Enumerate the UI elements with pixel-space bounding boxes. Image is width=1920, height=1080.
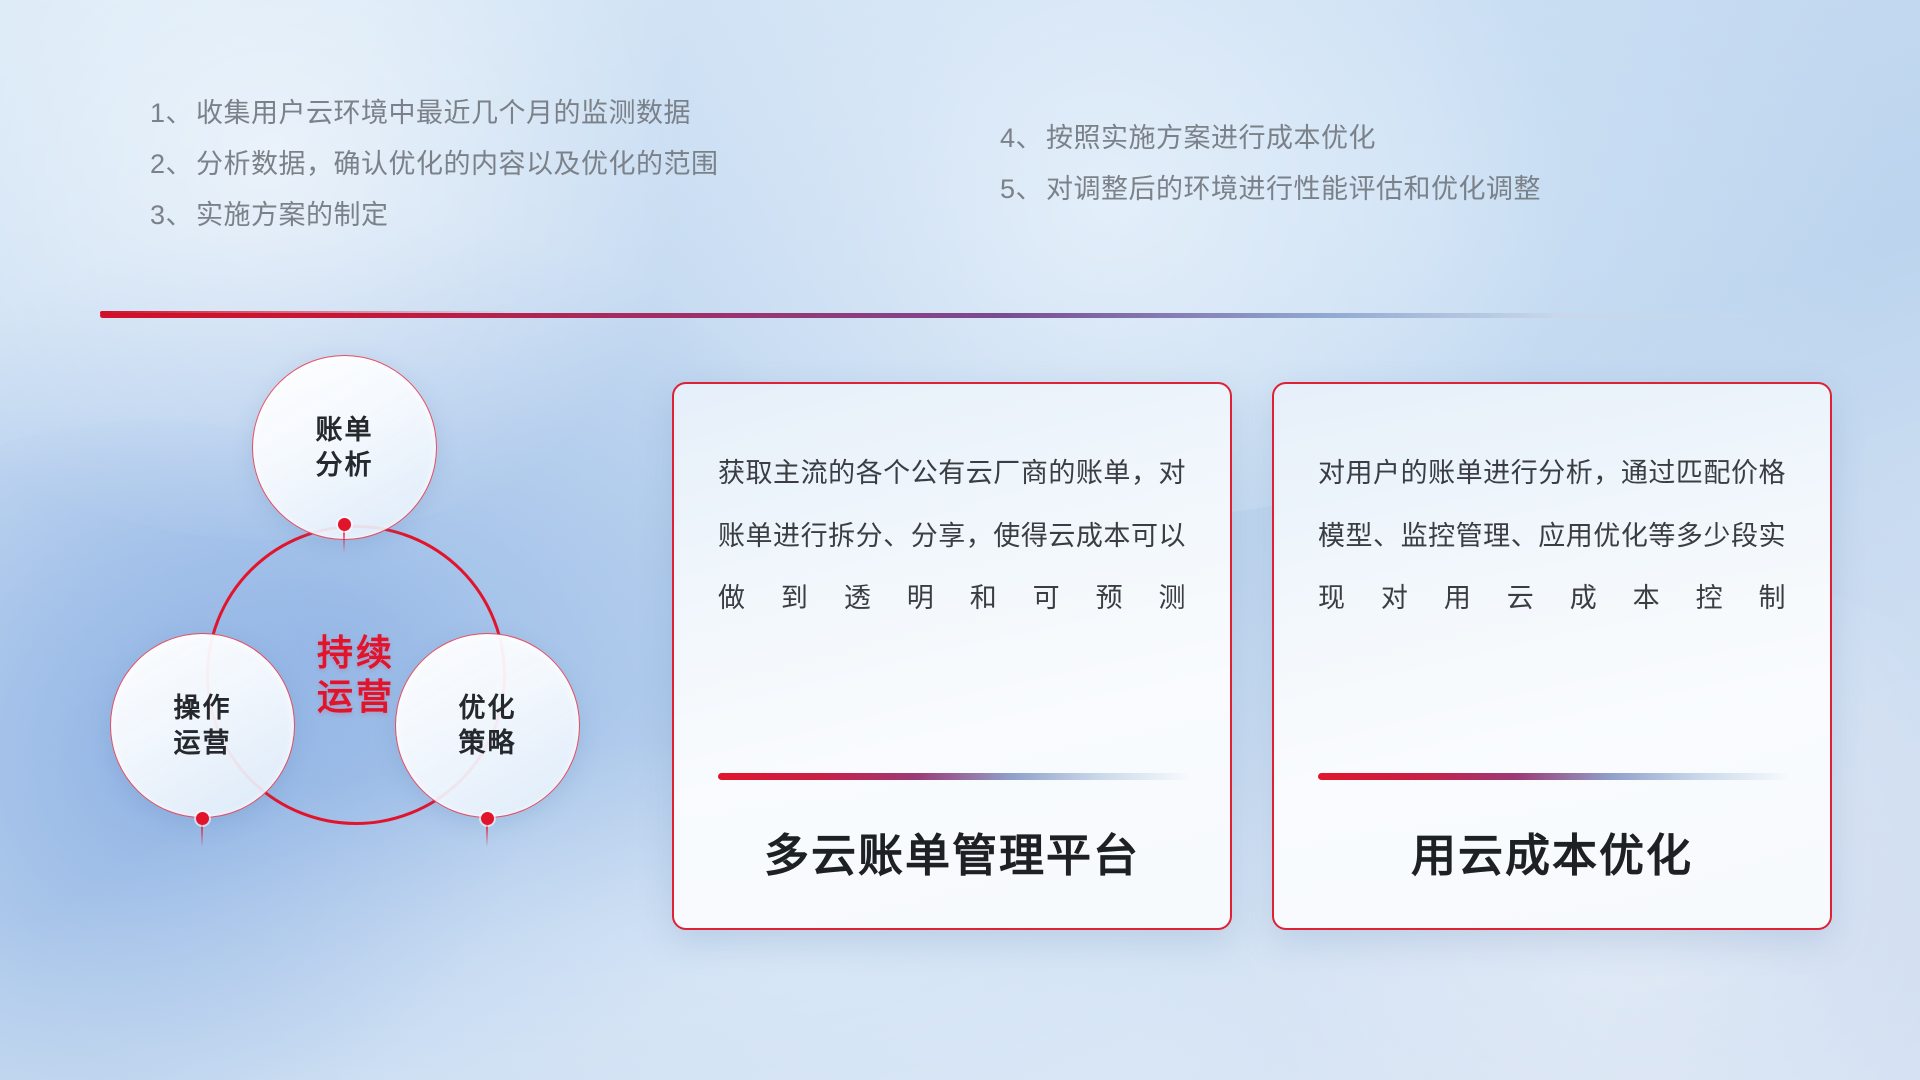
diagram-node-label-line1: 账单 — [316, 413, 374, 448]
list-item-text: 实施方案的制定 — [196, 202, 389, 229]
slide-canvas: 1、 收集用户云环境中最近几个月的监测数据 2、 分析数据，确认优化的内容以及优… — [0, 0, 1920, 1080]
diagram-node-dot-top — [338, 518, 351, 531]
list-item-index: 5、 — [1000, 176, 1046, 203]
section-divider — [100, 313, 1835, 318]
process-steps-left-column: 1、 收集用户云环境中最近几个月的监测数据 2、 分析数据，确认优化的内容以及优… — [150, 100, 719, 253]
card-cloud-cost-optimization[interactable]: 对用户的账单进行分析，通过匹配价格模型、监控管理、应用优化等多少段实现对用云成本… — [1272, 382, 1832, 930]
list-item: 5、 对调整后的环境进行性能评估和优化调整 — [1000, 176, 1541, 203]
diagram-node-tail-right — [486, 825, 488, 847]
diagram-node-label-line2: 运营 — [174, 726, 232, 761]
diagram-center-label-line2: 运营 — [317, 675, 395, 719]
diagram-node-tail-left — [201, 825, 203, 847]
list-item-text: 按照实施方案进行成本优化 — [1046, 125, 1376, 152]
diagram-node-bill-analysis[interactable]: 账单 分析 — [252, 355, 437, 540]
list-item-index: 3、 — [150, 202, 196, 229]
list-item-index: 2、 — [150, 151, 196, 178]
diagram-node-dot-right — [481, 812, 494, 825]
card-multi-cloud-billing-platform[interactable]: 获取主流的各个公有云厂商的账单，对账单进行拆分、分享，使得云成本可以做到透明和可… — [672, 382, 1232, 930]
list-item: 4、 按照实施方案进行成本优化 — [1000, 125, 1541, 152]
list-item: 3、 实施方案的制定 — [150, 202, 719, 229]
list-item-index: 1、 — [150, 100, 196, 127]
card-accent-rule — [1318, 773, 1790, 780]
card-accent-rule — [718, 773, 1190, 780]
list-item-text: 对调整后的环境进行性能评估和优化调整 — [1046, 176, 1541, 203]
process-steps-right-column: 4、 按照实施方案进行成本优化 5、 对调整后的环境进行性能评估和优化调整 — [1000, 125, 1541, 227]
list-item: 1、 收集用户云环境中最近几个月的监测数据 — [150, 100, 719, 127]
list-item-text: 分析数据，确认优化的内容以及优化的范围 — [196, 151, 719, 178]
diagram-node-tail-top — [343, 531, 345, 553]
card-title: 用云成本优化 — [1274, 819, 1830, 884]
diagram-node-optimization-strategy[interactable]: 优化 策略 — [395, 633, 580, 818]
diagram-node-operations[interactable]: 操作 运营 — [110, 633, 295, 818]
diagram-node-label-line2: 分析 — [316, 448, 374, 483]
card-title: 多云账单管理平台 — [674, 819, 1230, 884]
diagram-node-label-line1: 操作 — [174, 691, 232, 726]
list-item-index: 4、 — [1000, 125, 1046, 152]
diagram-center-label-line1: 持续 — [317, 631, 395, 675]
diagram-node-label-line2: 策略 — [459, 726, 517, 761]
list-item: 2、 分析数据，确认优化的内容以及优化的范围 — [150, 151, 719, 178]
card-body-text: 获取主流的各个公有云厂商的账单，对账单进行拆分、分享，使得云成本可以做到透明和可… — [718, 442, 1186, 712]
continuous-operations-diagram: 持续 运营 账单 分析 操作 运营 优化 策略 — [100, 355, 640, 935]
diagram-node-dot-left — [196, 812, 209, 825]
list-item-text: 收集用户云环境中最近几个月的监测数据 — [196, 100, 691, 127]
card-body-text: 对用户的账单进行分析，通过匹配价格模型、监控管理、应用优化等多少段实现对用云成本… — [1318, 442, 1786, 712]
diagram-node-label-line1: 优化 — [459, 691, 517, 726]
